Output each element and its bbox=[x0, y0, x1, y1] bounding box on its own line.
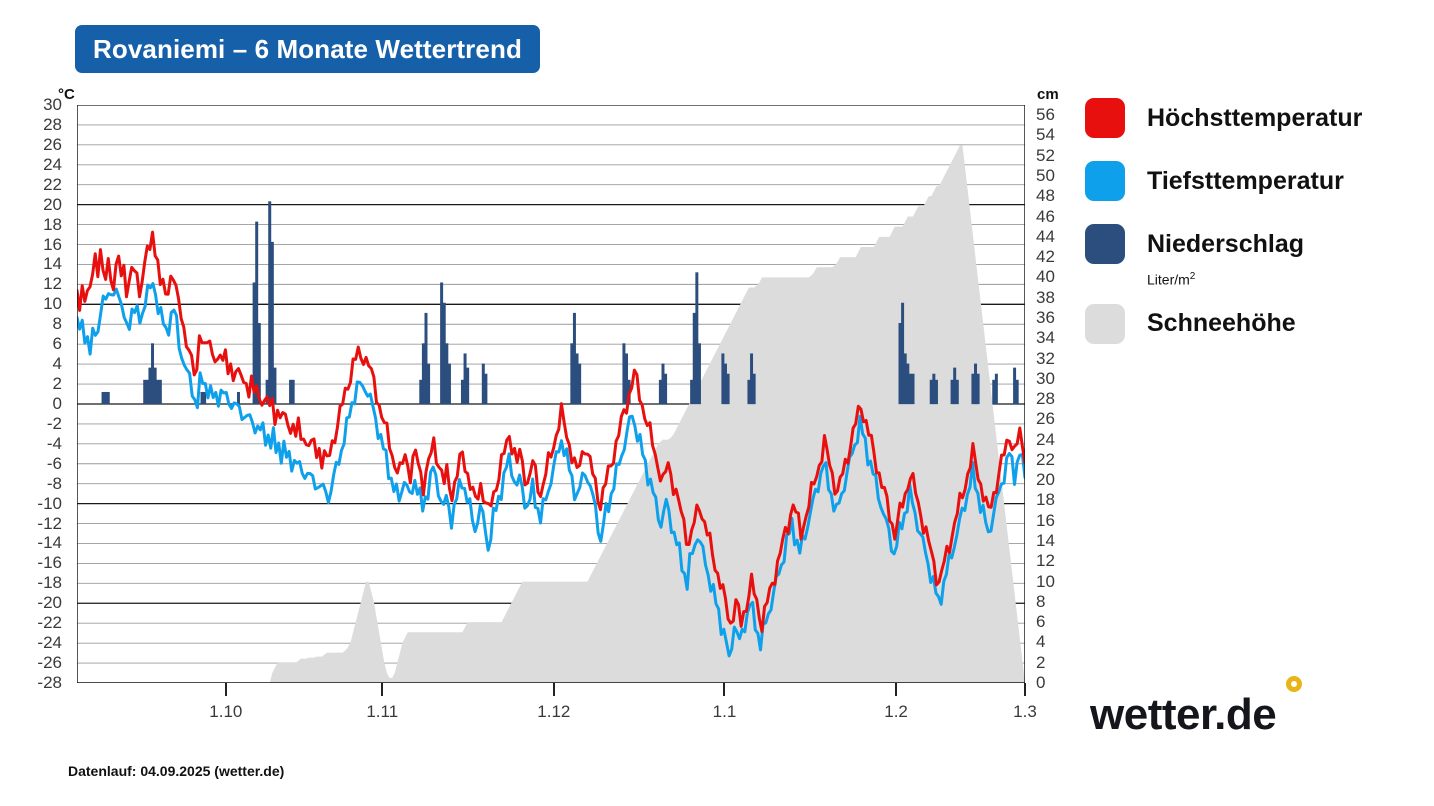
x-tick-mark-1.10 bbox=[225, 683, 227, 696]
y-tick-left-16: 16 bbox=[26, 235, 62, 255]
y-tick-right-26: 26 bbox=[1036, 409, 1072, 429]
wetter-de-logo[interactable]: wetter.de bbox=[1090, 690, 1276, 740]
y-tick-left-20: 20 bbox=[26, 195, 62, 215]
y-tick-left-4: 4 bbox=[26, 354, 62, 374]
y-tick-left-12: 12 bbox=[26, 274, 62, 294]
y-tick-right-22: 22 bbox=[1036, 450, 1072, 470]
y-tick-left--6: -6 bbox=[26, 454, 62, 474]
y-tick-left--10: -10 bbox=[26, 494, 62, 514]
y-tick-right-10: 10 bbox=[1036, 572, 1072, 592]
y-tick-right-6: 6 bbox=[1036, 612, 1072, 632]
y-tick-left--26: -26 bbox=[26, 653, 62, 673]
y-tick-left--4: -4 bbox=[26, 434, 62, 454]
y-tick-right-30: 30 bbox=[1036, 369, 1072, 389]
legend-label-max-temp: Höchsttemperatur bbox=[1147, 104, 1362, 133]
page-title: Rovaniemi – 6 Monate Wettertrend bbox=[93, 34, 522, 65]
y-tick-left-24: 24 bbox=[26, 155, 62, 175]
y-tick-left-14: 14 bbox=[26, 254, 62, 274]
y-tick-left--8: -8 bbox=[26, 474, 62, 494]
y-tick-right-20: 20 bbox=[1036, 470, 1072, 490]
y-tick-left-0: 0 bbox=[26, 394, 62, 414]
y-tick-left--14: -14 bbox=[26, 533, 62, 553]
y-tick-right-46: 46 bbox=[1036, 207, 1072, 227]
legend-swatch-precipitation bbox=[1085, 224, 1125, 264]
y-tick-right-4: 4 bbox=[1036, 632, 1072, 652]
y-tick-left--12: -12 bbox=[26, 514, 62, 534]
y-tick-right-34: 34 bbox=[1036, 328, 1072, 348]
legend-item-precipitation: Niederschlag bbox=[1085, 224, 1415, 264]
y-tick-left--18: -18 bbox=[26, 573, 62, 593]
legend-swatch-min-temp bbox=[1085, 161, 1125, 201]
legend-item-max-temp: Höchsttemperatur bbox=[1085, 98, 1415, 138]
y-tick-right-2: 2 bbox=[1036, 653, 1072, 673]
y-tick-right-24: 24 bbox=[1036, 430, 1072, 450]
logo-text: wetter.de bbox=[1090, 690, 1276, 739]
legend-swatch-snow bbox=[1085, 304, 1125, 344]
x-tick-label-1.12: 1.12 bbox=[537, 702, 570, 722]
y-tick-left-28: 28 bbox=[26, 115, 62, 135]
legend-label-min-temp: Tiefsttemperatur bbox=[1147, 167, 1344, 196]
y-tick-left--2: -2 bbox=[26, 414, 62, 434]
legend-swatch-max-temp bbox=[1085, 98, 1125, 138]
x-tick-label-1.1: 1.1 bbox=[713, 702, 737, 722]
x-tick-mark-1.3 bbox=[1024, 683, 1026, 696]
y-tick-left-2: 2 bbox=[26, 374, 62, 394]
y-tick-left--24: -24 bbox=[26, 633, 62, 653]
y-tick-right-50: 50 bbox=[1036, 166, 1072, 186]
y-tick-left-18: 18 bbox=[26, 215, 62, 235]
y-tick-left-8: 8 bbox=[26, 314, 62, 334]
y-tick-right-14: 14 bbox=[1036, 531, 1072, 551]
y-tick-right-38: 38 bbox=[1036, 288, 1072, 308]
y-tick-left--28: -28 bbox=[26, 673, 62, 693]
y-tick-right-54: 54 bbox=[1036, 125, 1072, 145]
y-tick-right-56: 56 bbox=[1036, 105, 1072, 125]
x-tick-label-1.10: 1.10 bbox=[209, 702, 242, 722]
x-tick-label-1.3: 1.3 bbox=[1013, 702, 1037, 722]
y-tick-left--16: -16 bbox=[26, 553, 62, 573]
y-tick-left-26: 26 bbox=[26, 135, 62, 155]
y-tick-right-18: 18 bbox=[1036, 490, 1072, 510]
snow-depth-area bbox=[77, 146, 1025, 683]
y-tick-right-12: 12 bbox=[1036, 551, 1072, 571]
x-tick-mark-1.2 bbox=[895, 683, 897, 696]
y-tick-left-22: 22 bbox=[26, 175, 62, 195]
legend-item-snow: Schneehöhe bbox=[1085, 304, 1415, 344]
ring-icon bbox=[1286, 676, 1302, 692]
y-tick-right-48: 48 bbox=[1036, 186, 1072, 206]
legend-item-min-temp: Tiefsttemperatur bbox=[1085, 161, 1415, 201]
y-tick-right-32: 32 bbox=[1036, 349, 1072, 369]
y-tick-left--22: -22 bbox=[26, 613, 62, 633]
legend-label-snow: Schneehöhe bbox=[1147, 309, 1296, 338]
right-axis-unit: cm bbox=[1037, 86, 1059, 103]
y-tick-right-44: 44 bbox=[1036, 227, 1072, 247]
legend-sublabel-precipitation-unit: Liter/m2 bbox=[1147, 271, 1415, 288]
data-run-note: Datenlauf: 04.09.2025 (wetter.de) bbox=[68, 763, 284, 779]
y-tick-left--20: -20 bbox=[26, 593, 62, 613]
x-tick-label-1.2: 1.2 bbox=[884, 702, 908, 722]
y-tick-right-28: 28 bbox=[1036, 389, 1072, 409]
chart-legend: Höchsttemperatur Tiefsttemperatur Nieder… bbox=[1085, 98, 1415, 367]
y-tick-right-0: 0 bbox=[1036, 673, 1072, 693]
chart-title-badge: Rovaniemi – 6 Monate Wettertrend bbox=[75, 25, 540, 73]
y-tick-left-10: 10 bbox=[26, 294, 62, 314]
y-tick-right-52: 52 bbox=[1036, 146, 1072, 166]
weather-chart-svg bbox=[77, 105, 1025, 683]
y-tick-right-42: 42 bbox=[1036, 247, 1072, 267]
y-tick-right-16: 16 bbox=[1036, 511, 1072, 531]
chart-plot-area bbox=[77, 105, 1025, 683]
legend-label-precipitation: Niederschlag bbox=[1147, 230, 1304, 259]
y-tick-right-40: 40 bbox=[1036, 267, 1072, 287]
x-tick-mark-1.1 bbox=[723, 683, 725, 696]
x-tick-label-1.11: 1.11 bbox=[366, 702, 398, 722]
x-tick-mark-1.11 bbox=[381, 683, 383, 696]
x-tick-mark-1.12 bbox=[553, 683, 555, 696]
y-tick-right-8: 8 bbox=[1036, 592, 1072, 612]
y-tick-right-36: 36 bbox=[1036, 308, 1072, 328]
y-tick-left-6: 6 bbox=[26, 334, 62, 354]
y-tick-left-30: 30 bbox=[26, 95, 62, 115]
